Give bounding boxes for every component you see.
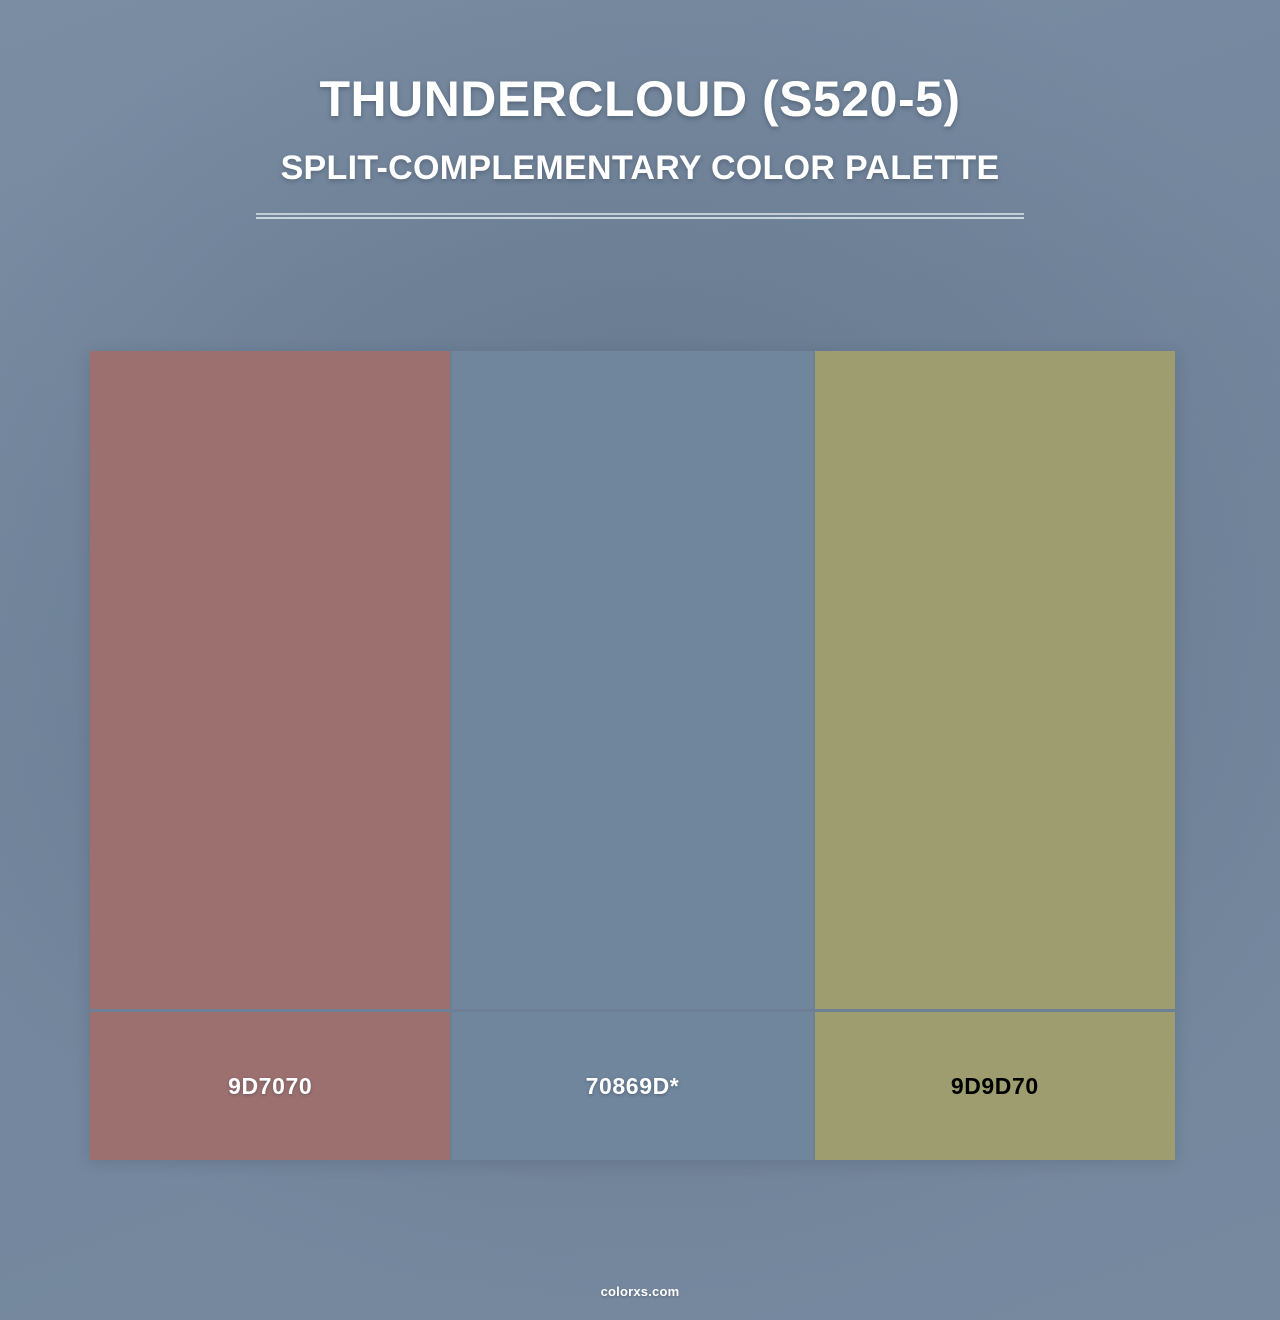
page-footer: colorxs.com	[0, 1283, 1280, 1301]
swatch-color-block-2[interactable]	[452, 351, 812, 1009]
swatch-color-block-3[interactable]	[815, 351, 1175, 1009]
swatch-column-1[interactable]: 9D7070	[90, 351, 450, 1160]
swatch-hex-label-3: 9D9D70	[951, 1073, 1039, 1100]
divider-rule-bottom	[256, 217, 1024, 219]
swatch-label-band-1: 9D7070	[90, 1012, 450, 1160]
site-credit-link[interactable]: colorxs.com	[601, 1284, 680, 1299]
swatch-column-2[interactable]: 70869D*	[450, 351, 812, 1160]
page-title: THUNDERCLOUD (S520-5)	[0, 0, 1280, 124]
color-swatch-panel: 9D7070 70869D* 9D9D70	[90, 351, 1175, 1160]
title-divider	[256, 213, 1024, 218]
swatch-label-band-3: 9D9D70	[815, 1012, 1175, 1160]
swatch-column-3[interactable]: 9D9D70	[813, 351, 1175, 1160]
divider-rule-top	[256, 213, 1024, 215]
page-header: THUNDERCLOUD (S520-5) SPLIT-COMPLEMENTAR…	[0, 0, 1280, 218]
page-subtitle: SPLIT-COMPLEMENTARY COLOR PALETTE	[0, 124, 1280, 185]
swatch-hex-label-2: 70869D*	[586, 1073, 680, 1100]
swatch-label-band-2: 70869D*	[452, 1012, 812, 1160]
swatch-hex-label-1: 9D7070	[228, 1073, 312, 1100]
swatch-color-block-1[interactable]	[90, 351, 450, 1009]
